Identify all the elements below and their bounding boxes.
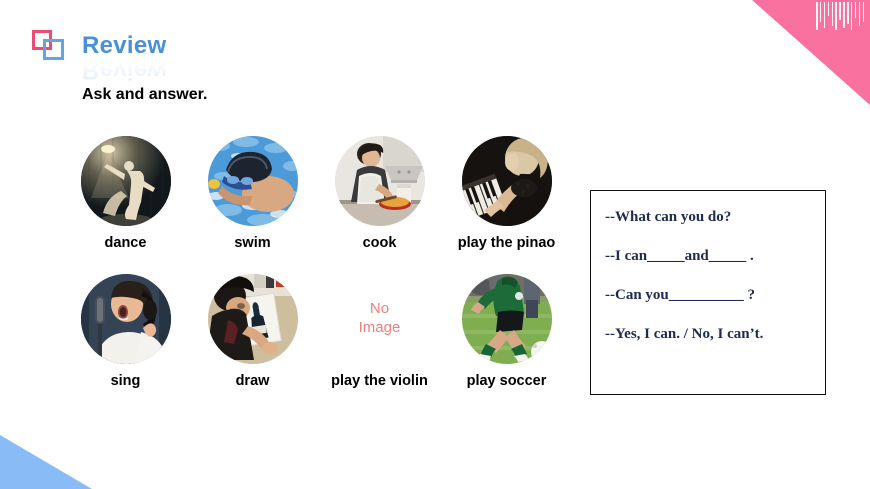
page-title: Review [82, 34, 167, 58]
swimmer-photo[interactable] [208, 136, 298, 226]
instruction-text: Ask and answer. [82, 86, 207, 104]
activity-caption: play the violin [331, 373, 428, 390]
page-title-reflection: Review [82, 58, 167, 82]
activity-caption: sing [111, 373, 141, 390]
page-title-wrap: Review Review [82, 34, 167, 58]
activity-caption: cook [363, 235, 397, 252]
dialogue-line-2: --I can_____and_____ . [605, 248, 811, 265]
no-image-placeholder: No Image [335, 274, 425, 364]
activity-item-draw[interactable]: draw [189, 274, 316, 390]
activity-caption: draw [236, 373, 270, 390]
ballet-dancer-photo[interactable] [81, 136, 171, 226]
activity-item-play-the-violin[interactable]: No Image play the violin [316, 274, 443, 390]
slide-header: Review Review [30, 28, 167, 64]
person-cooking-photo[interactable] [335, 136, 425, 226]
dialogue-line-1: --What can you do? [605, 209, 811, 226]
activity-caption: dance [105, 235, 147, 252]
activity-item-play-the-pinao[interactable]: play the pinao [443, 136, 570, 252]
soccer-player-photo[interactable] [462, 274, 552, 364]
activity-item-dance[interactable]: dance [62, 136, 189, 252]
singer-microphone-photo[interactable] [81, 274, 171, 364]
dialogue-line-4: --Yes, I can. / No, I can’t. [605, 326, 811, 343]
person-drawing-photo[interactable] [208, 274, 298, 364]
no-image-line-1: No [370, 300, 389, 319]
slide-canvas: Review Review Ask and answer. [0, 0, 870, 489]
no-image-line-2: Image [359, 319, 401, 338]
blue-triangle-decoration [0, 435, 92, 489]
squares-logo-icon [30, 28, 70, 64]
activity-row-2: sing [62, 274, 572, 390]
activity-item-swim[interactable]: swim [189, 136, 316, 252]
dialogue-text-box: --What can you do? --I can_____and_____ … [590, 190, 826, 395]
activity-row-1: dance [62, 136, 572, 252]
activity-grid: dance [62, 136, 572, 389]
activity-item-sing[interactable]: sing [62, 274, 189, 390]
logo-blue-square-icon [43, 39, 64, 60]
activity-caption: play the pinao [458, 235, 556, 252]
activity-item-cook[interactable]: cook [316, 136, 443, 252]
activity-item-play-soccer[interactable]: play soccer [443, 274, 570, 390]
activity-caption: swim [234, 235, 270, 252]
barcode-decoration [816, 2, 864, 30]
piano-player-photo[interactable] [462, 136, 552, 226]
dialogue-line-3: --Can you__________ ? [605, 287, 811, 304]
activity-caption: play soccer [467, 373, 547, 390]
